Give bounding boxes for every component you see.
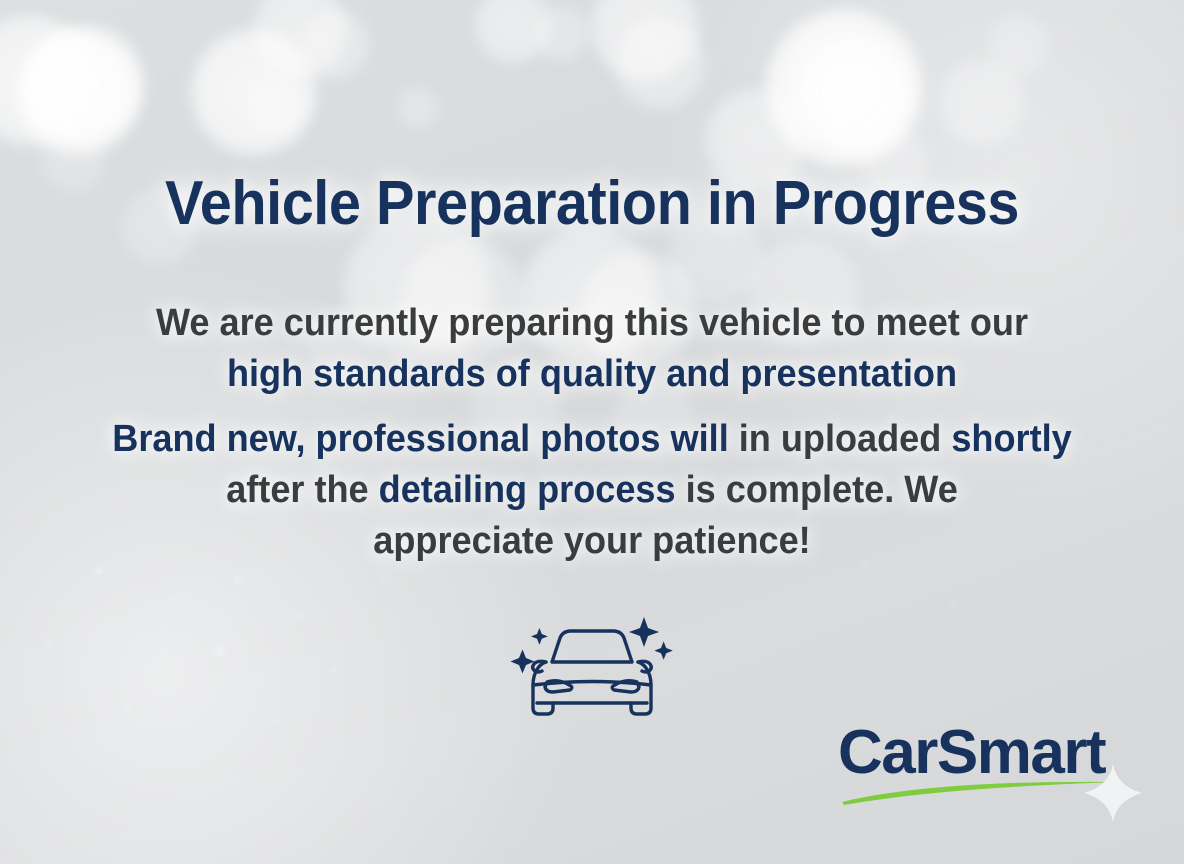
message-segment-emphasis: will — [671, 418, 739, 460]
car-headlight-left — [545, 681, 572, 692]
message-segment-emphasis: detailing process — [379, 469, 676, 511]
brand-sparkle-icon — [1082, 762, 1144, 824]
placeholder-slide: Vehicle Preparation in Progress We are c… — [0, 0, 1184, 864]
message-line: Brand new, professional photos will in u… — [30, 414, 1155, 465]
message-segment: in uploaded — [739, 418, 952, 460]
message-line: appreciate your patience! — [30, 516, 1155, 567]
car-windshield — [552, 631, 632, 662]
page-title: Vehicle Preparation in Progress — [41, 168, 1142, 239]
notice-content: Vehicle Preparation in Progress We are c… — [0, 0, 1184, 864]
message-segment-emphasis: shortly — [951, 418, 1071, 460]
message-segment: appreciate your patience! — [373, 520, 810, 562]
sparkling-car-icon — [497, 606, 687, 726]
message-segment: is complete. We — [676, 469, 958, 511]
brand-logo: CarSmart — [838, 718, 1138, 828]
message-segment-emphasis: Brand new, professional photos — [112, 418, 670, 460]
sparkle-icon — [531, 628, 548, 645]
car-headlight-right — [612, 681, 639, 692]
message-paragraph-1: We are currently preparing this vehicle … — [30, 298, 1155, 400]
message-line: We are currently preparing this vehicle … — [30, 298, 1155, 349]
sparkle-icon — [654, 641, 672, 659]
brand-swoosh-icon — [840, 776, 1122, 806]
message-segment-emphasis: high standards of quality and presentati… — [227, 353, 957, 395]
message-segment: We are currently preparing this vehicle … — [156, 302, 1028, 344]
message-line: after the detailing process is complete.… — [30, 465, 1155, 516]
sparkle-icon — [511, 650, 535, 674]
message-paragraph-2: Brand new, professional photos will in u… — [30, 414, 1155, 567]
message-segment: after the — [226, 469, 378, 511]
message-line: high standards of quality and presentati… — [30, 349, 1155, 400]
sparkle-icon — [629, 617, 659, 647]
